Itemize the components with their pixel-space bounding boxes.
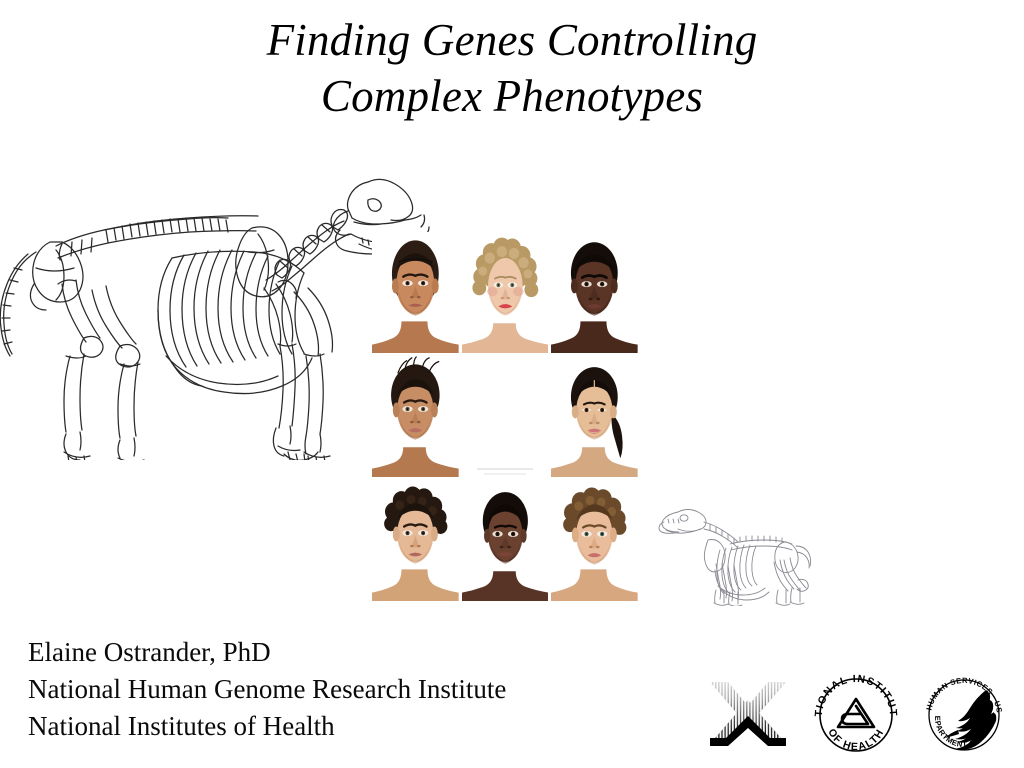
byline-presenter-name: Elaine Ostrander, PhD: [28, 634, 506, 671]
face-cell-row2-col2-blank: [462, 356, 549, 477]
face-cell-row3-col1: [372, 480, 459, 601]
logo-row: NATIONAL INSTITUTES OF HEALTH: [700, 668, 1012, 760]
byline-organization: National Institutes of Health: [28, 708, 506, 745]
face-cell-row1-col1: [372, 232, 459, 353]
nih-logo: NATIONAL INSTITUTES OF HEALTH: [812, 668, 900, 758]
tail-vertebrae: [0, 252, 36, 356]
nih-scroll-emblem: [838, 699, 874, 727]
faint-marking-line-2: [484, 473, 526, 475]
skull-bones: [659, 510, 706, 534]
face-cell-row2-col1: [372, 356, 459, 477]
rib-cage: [715, 545, 769, 600]
nih-circular-text-top: NATIONAL INSTITUTES: [812, 668, 899, 717]
face-cell-row3-col2: [462, 480, 549, 601]
rib-cage: [158, 250, 312, 394]
face-cell-row1-col2: [462, 232, 549, 353]
hind-legs: [58, 280, 144, 460]
face-cell-row2-col3: [551, 356, 638, 477]
title-line-2: Complex Phenotypes: [0, 68, 1024, 124]
face-photo-grid: [372, 232, 638, 601]
spine: [56, 216, 258, 260]
front-legs: [264, 280, 333, 460]
faint-marking-line-1: [477, 468, 532, 470]
title-line-1: Finding Genes Controlling: [0, 12, 1024, 68]
hind-legs: [774, 558, 808, 605]
face-cell-row3-col3: [551, 480, 638, 601]
presentation-slide: Finding Genes Controlling Complex Phenot…: [0, 0, 1024, 768]
byline: Elaine Ostrander, PhD National Human Gen…: [28, 634, 506, 745]
face-cell-row1-col3: [551, 232, 638, 353]
byline-institute: National Human Genome Research Institute: [28, 671, 506, 708]
small-dog-skeleton-illustration: [652, 498, 812, 606]
nih-circular-text-bottom: OF HEALTH: [825, 727, 886, 753]
page-title: Finding Genes Controlling Complex Phenot…: [0, 12, 1024, 124]
pelvis: [30, 242, 83, 310]
nhgri-logo: [704, 668, 792, 758]
cervical-vertebrae: [266, 210, 349, 292]
hhs-logo: & HUMAN SERVICES · USA DEPARTMENT OF HEA…: [920, 668, 1008, 758]
